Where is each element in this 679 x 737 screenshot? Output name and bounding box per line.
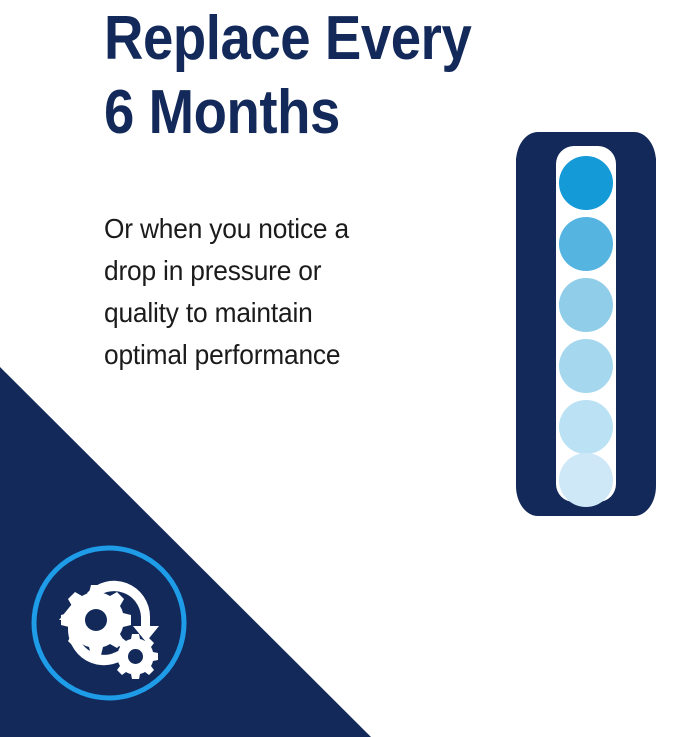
replacement-cycle-badge bbox=[28, 542, 190, 704]
gear-small-hub bbox=[128, 649, 143, 664]
gear-small bbox=[113, 634, 158, 679]
gears-refresh-cycle-icon bbox=[59, 581, 159, 679]
indicator-dot-6 bbox=[559, 453, 613, 507]
indicator-dot-2 bbox=[559, 217, 613, 271]
indicator-dot-4 bbox=[559, 339, 613, 393]
indicator-dot-5 bbox=[559, 400, 613, 454]
gear-large-hub bbox=[85, 609, 107, 631]
indicator-dot-1 bbox=[559, 156, 613, 210]
water-filter-cartridge-illustration bbox=[512, 128, 660, 520]
subtitle-text: Or when you notice a drop in pressure or… bbox=[104, 208, 442, 376]
page-title: Replace Every 6 Months bbox=[104, 2, 518, 150]
infographic-card: Replace Every 6 Months Or when you notic… bbox=[0, 0, 679, 737]
indicator-dot-3 bbox=[559, 278, 613, 332]
